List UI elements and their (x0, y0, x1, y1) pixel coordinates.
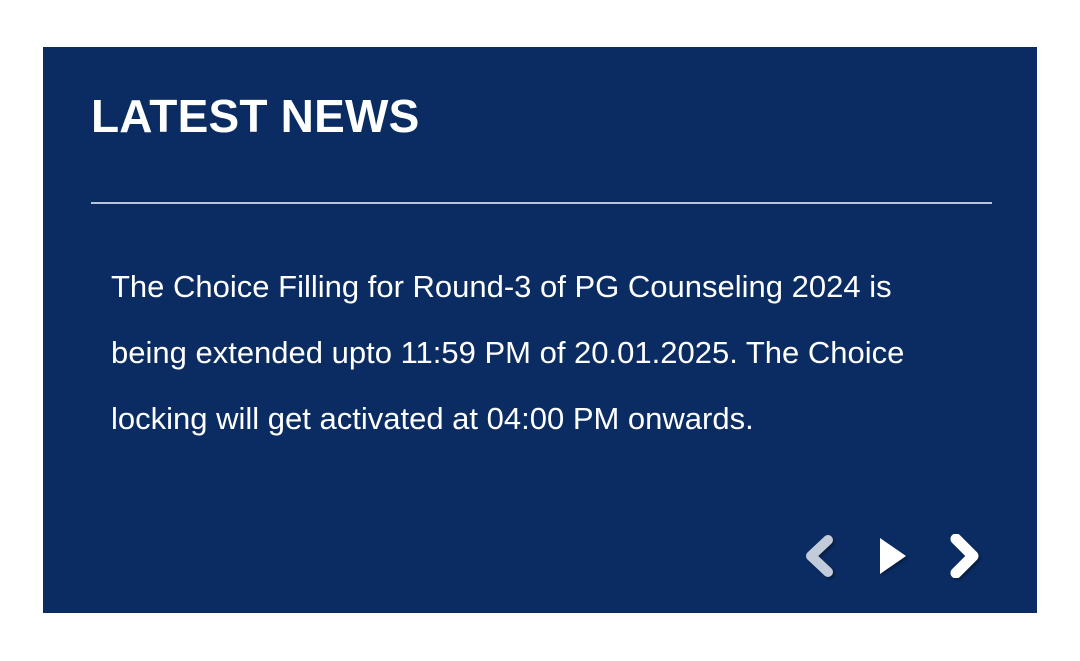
latest-news-widget: LATEST NEWS The Choice Filling for Round… (43, 47, 1037, 613)
chevron-left-icon (803, 534, 837, 578)
news-body-text: The Choice Filling for Round-3 of PG Cou… (111, 254, 973, 452)
carousel-controls (797, 530, 987, 582)
play-button[interactable] (869, 530, 915, 582)
next-button[interactable] (941, 530, 987, 582)
chevron-right-icon (947, 534, 981, 578)
play-icon (875, 535, 909, 577)
previous-button[interactable] (797, 530, 843, 582)
title-divider (91, 202, 992, 204)
page-title: LATEST NEWS (91, 90, 419, 142)
